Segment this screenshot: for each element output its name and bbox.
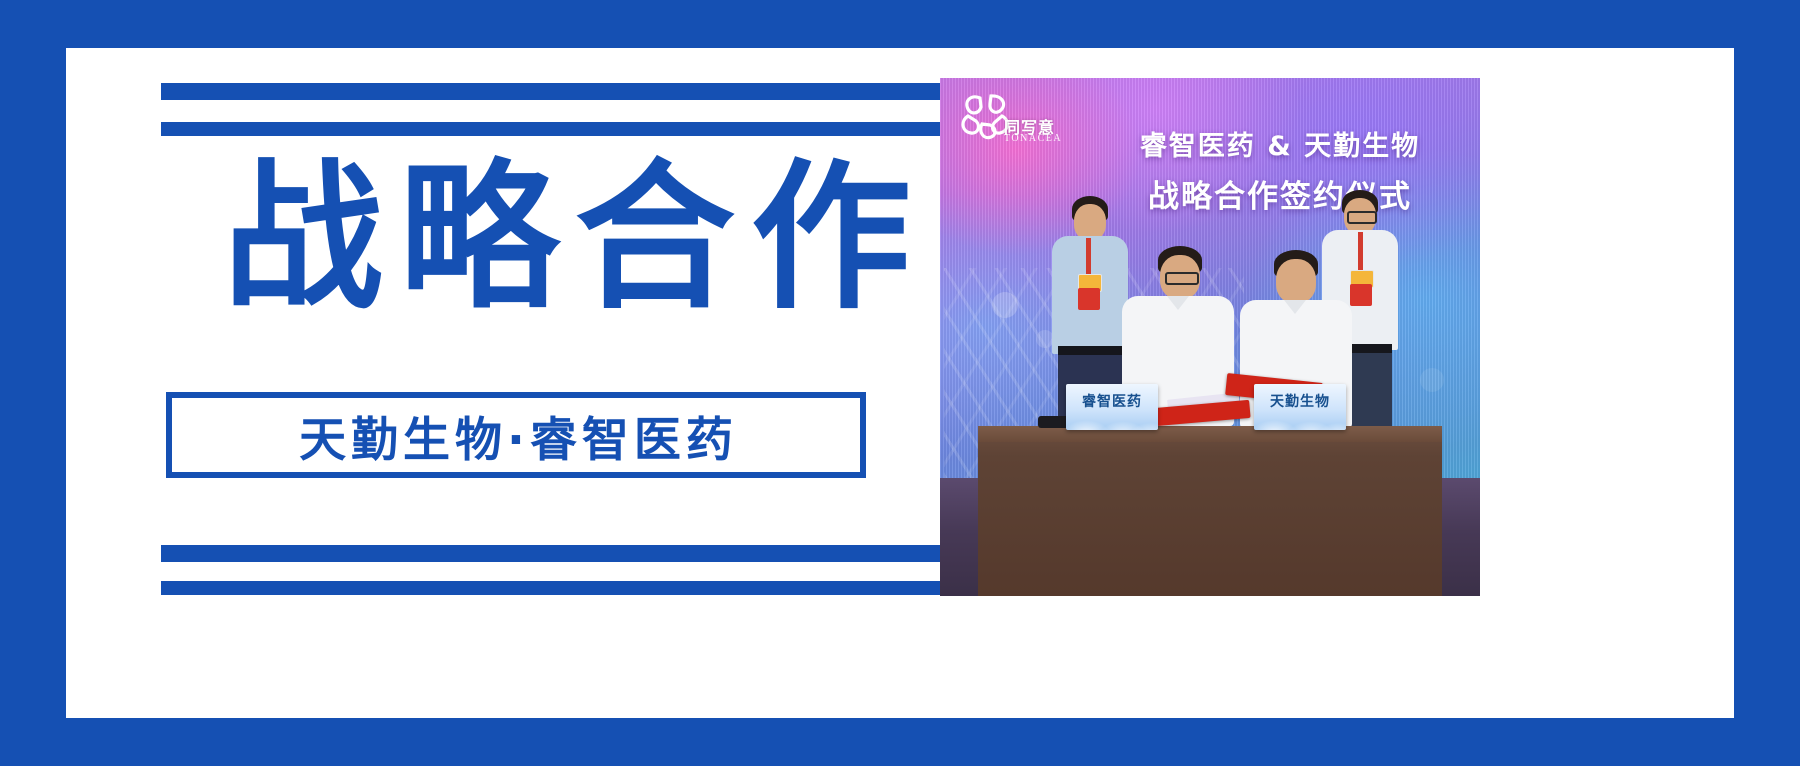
- top-rule-1: [161, 83, 973, 100]
- name-card-label: 睿智医药: [1082, 391, 1142, 411]
- bottom-rule-2: [161, 581, 973, 595]
- table-top-edge: [978, 426, 1442, 442]
- poster-canvas: 战略合作 天勤生物·睿智医药: [0, 0, 1800, 766]
- ceremony-photo: 同写意 TONACEA 睿智医药 & 天勤生物 战略合作签约仪式: [940, 78, 1480, 596]
- bokeh-dot: [1420, 368, 1444, 392]
- head: [1276, 259, 1316, 303]
- name-card-label: 天勤生物: [1270, 391, 1330, 411]
- page-title: 战略合作: [161, 158, 973, 318]
- screen-banner-title: 睿智医药 & 天勤生物 战略合作签约仪式: [1095, 124, 1465, 216]
- subtitle-text: 天勤生物·睿智医药: [294, 401, 738, 470]
- bottom-rule-gap: [161, 562, 973, 581]
- polo-collar: [1167, 296, 1189, 310]
- bottom-rule-1: [161, 545, 973, 562]
- signing-table: [978, 426, 1442, 596]
- lanyard-strap: [1086, 238, 1091, 276]
- polo-collar: [1284, 300, 1306, 314]
- subtitle-box: 天勤生物·睿智医药: [166, 392, 866, 478]
- top-rule-gap: [161, 100, 973, 122]
- head: [1074, 204, 1106, 240]
- inner-white-card: 战略合作 天勤生物·睿智医药: [66, 48, 1734, 718]
- card-wave-decor: [1254, 408, 1346, 430]
- top-rule-2: [161, 122, 973, 136]
- organiser-logo: 同写意 TONACEA: [958, 92, 1078, 158]
- logo-english-name: TONACEA: [1004, 133, 1062, 144]
- bottom-rule-group: [161, 545, 973, 595]
- top-rule-group: [161, 83, 973, 136]
- banner-title-line-2: 战略合作签约仪式: [1095, 171, 1465, 216]
- banner-title-line-1: 睿智医药 & 天勤生物: [1095, 124, 1465, 163]
- belt: [1058, 346, 1122, 355]
- card-wave-decor: [1066, 408, 1158, 430]
- glasses: [1165, 272, 1199, 285]
- glasses: [1347, 211, 1377, 224]
- bokeh-dot: [992, 292, 1018, 318]
- name-card-right: 天勤生物: [1254, 384, 1346, 430]
- name-card-left: 睿智医药: [1066, 384, 1158, 430]
- badge-ribbon: [1078, 288, 1100, 310]
